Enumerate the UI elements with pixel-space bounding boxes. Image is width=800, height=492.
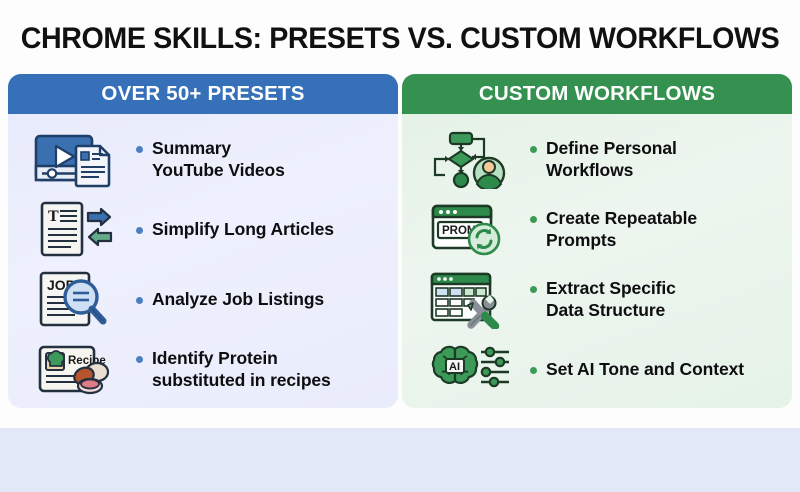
panel-workflows: CUSTOM WORKFLOWS bbox=[402, 74, 792, 408]
list-item-label: Create Repeatable Prompts bbox=[546, 207, 697, 252]
list-item[interactable]: JOB Analyze Job Listings bbox=[8, 264, 398, 334]
brain-sliders-icon: AI bbox=[424, 338, 516, 400]
list-item-label: Extract Specific Data Structure bbox=[546, 277, 676, 322]
panel-presets-header: OVER 50+ PRESETS bbox=[8, 74, 398, 114]
list-item-label: Set AI Tone and Context bbox=[546, 358, 744, 380]
text-document-arrows-icon: T bbox=[30, 198, 122, 260]
bottom-strip bbox=[0, 428, 800, 492]
list-item-text: Create Repeatable Prompts bbox=[516, 207, 697, 252]
list-item-text: Define Personal Workflows bbox=[516, 137, 677, 182]
list-item-label: Analyze Job Listings bbox=[152, 288, 324, 310]
list-item-text: Analyze Job Listings bbox=[122, 288, 324, 310]
list-item-label: Define Personal Workflows bbox=[546, 137, 677, 182]
bullet-icon bbox=[530, 286, 537, 293]
panel-workflows-items: Define Personal Workflows PROMPT bbox=[402, 114, 792, 404]
list-item[interactable]: PROMPT Create Repeatable Prompts bbox=[402, 194, 792, 264]
list-item[interactable]: Extract Specific Data Structure bbox=[402, 264, 792, 334]
list-item-text: Set AI Tone and Context bbox=[516, 358, 744, 380]
list-item-text: Identify Protein substituted in recipes bbox=[122, 347, 331, 392]
list-item-text: Simplify Long Articles bbox=[122, 218, 334, 240]
recipe-card-food-icon: Recipe bbox=[30, 338, 122, 400]
svg-text:AI: AI bbox=[449, 361, 460, 373]
list-item-label: Identify Protein substituted in recipes bbox=[152, 347, 331, 392]
bullet-icon bbox=[136, 227, 143, 234]
spreadsheet-tools-icon bbox=[424, 268, 516, 330]
panel-presets: OVER 50+ PRESETS bbox=[8, 74, 398, 408]
bullet-icon bbox=[530, 146, 537, 153]
list-item[interactable]: AI Set AI Tone and Context bbox=[402, 334, 792, 404]
list-item-label: Summary YouTube Videos bbox=[152, 137, 285, 182]
video-document-icon bbox=[30, 128, 122, 190]
bullet-icon bbox=[136, 297, 143, 304]
list-item[interactable]: Define Personal Workflows bbox=[402, 124, 792, 194]
list-item[interactable]: Summary YouTube Videos bbox=[8, 124, 398, 194]
flowchart-user-icon bbox=[424, 128, 516, 190]
panel-workflows-header: CUSTOM WORKFLOWS bbox=[402, 74, 792, 114]
list-item[interactable]: Recipe Identify Protein substituted in r… bbox=[8, 334, 398, 404]
bullet-icon bbox=[530, 216, 537, 223]
prompt-window-refresh-icon: PROMPT bbox=[424, 198, 516, 260]
list-item-text: Extract Specific Data Structure bbox=[516, 277, 676, 322]
infographic-root: CHROME SKILLS: PRESETS VS. CUSTOM WORKFL… bbox=[0, 0, 800, 492]
bullet-icon bbox=[136, 146, 143, 153]
panel-presets-items: Summary YouTube Videos T bbox=[8, 114, 398, 404]
list-item[interactable]: T Simplify Long Articles bbox=[8, 194, 398, 264]
bullet-icon bbox=[136, 356, 143, 363]
list-item-text: Summary YouTube Videos bbox=[122, 137, 285, 182]
page-title: CHROME SKILLS: PRESETS VS. CUSTOM WORKFL… bbox=[12, 22, 788, 56]
list-item-label: Simplify Long Articles bbox=[152, 218, 334, 240]
svg-text:T: T bbox=[48, 208, 59, 225]
bullet-icon bbox=[530, 367, 537, 374]
job-document-magnifier-icon: JOB bbox=[30, 268, 122, 330]
